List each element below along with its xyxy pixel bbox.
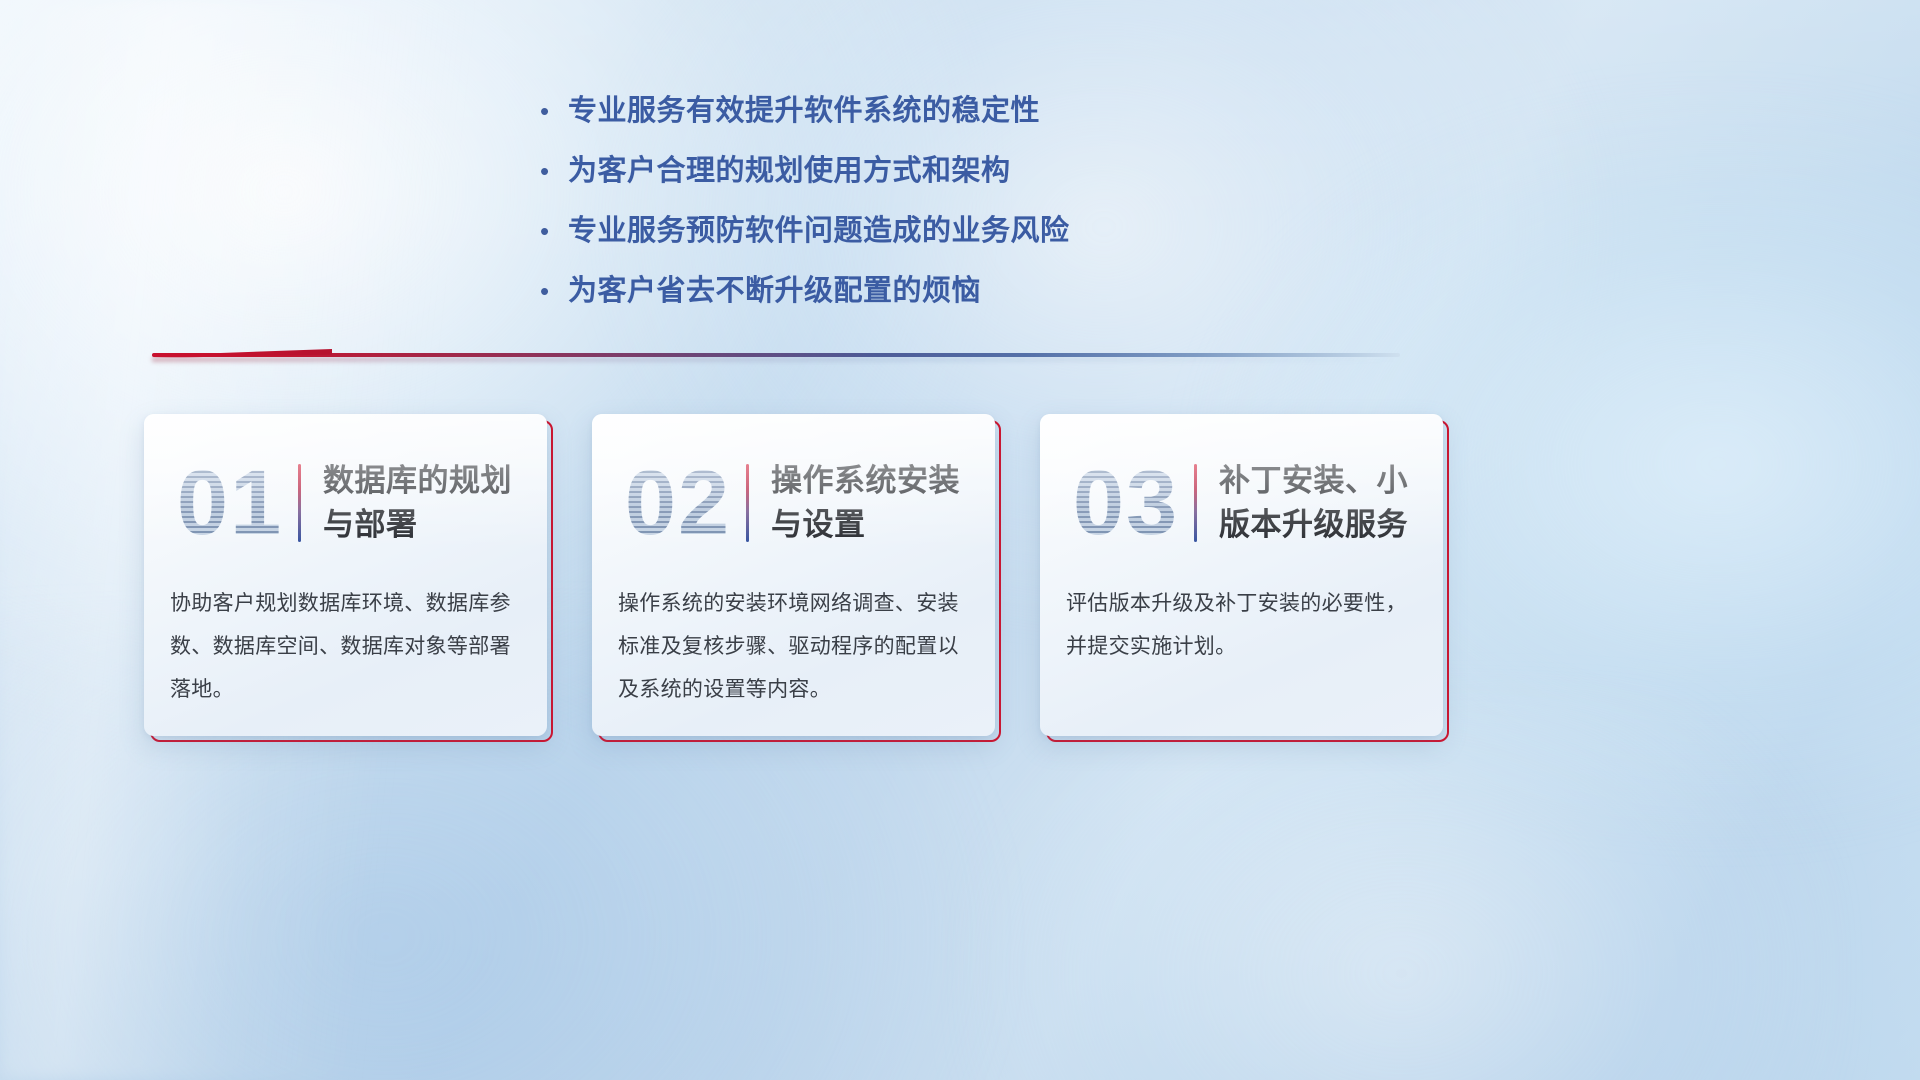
card-title: 补丁安装、小版本升级服务 <box>1219 459 1443 547</box>
card-title: 操作系统安装与设置 <box>771 459 995 547</box>
card-description: 操作系统的安装环境网络调查、安装标准及复核步骤、驱动程序的配置以及系统的设置等内… <box>618 582 973 711</box>
card-number: 02 <box>614 451 742 555</box>
divider-shadow <box>152 357 1400 362</box>
bullet-dot-icon: • <box>540 152 568 190</box>
card-divider-icon <box>746 464 749 542</box>
bullet-dot-icon: • <box>540 92 568 130</box>
card-header: 03 补丁安装、小版本升级服务 <box>1040 444 1443 562</box>
card-number: 01 <box>166 451 294 555</box>
section-divider-rule <box>152 348 1400 364</box>
card-description: 评估版本升级及补丁安装的必要性，并提交实施计划。 <box>1066 582 1421 668</box>
service-card-03[interactable]: 03 补丁安装、小版本升级服务 评估版本升级及补丁安装的必要性，并提交实施计划。 <box>1046 420 1449 742</box>
list-item: • 为客户省去不断升级配置的烦恼 <box>540 272 1240 310</box>
card-divider-icon <box>298 464 301 542</box>
card-header: 02 操作系统安装与设置 <box>592 444 995 562</box>
benefits-bullet-list: • 专业服务有效提升软件系统的稳定性 • 为客户合理的规划使用方式和架构 • 专… <box>540 92 1240 332</box>
bullet-label: 为客户合理的规划使用方式和架构 <box>568 152 1011 190</box>
card-surface: 03 补丁安装、小版本升级服务 评估版本升级及补丁安装的必要性，并提交实施计划。 <box>1040 414 1443 736</box>
card-surface: 02 操作系统安装与设置 操作系统的安装环境网络调查、安装标准及复核步骤、驱动程… <box>592 414 995 736</box>
service-card-row: 01 数据库的规划与部署 协助客户规划数据库环境、数据库参数、数据库空间、数据库… <box>150 420 1450 750</box>
bullet-dot-icon: • <box>540 212 568 250</box>
card-header: 01 数据库的规划与部署 <box>144 444 547 562</box>
card-number: 03 <box>1062 451 1190 555</box>
bullet-label: 专业服务有效提升软件系统的稳定性 <box>568 92 1040 130</box>
bullet-label: 为客户省去不断升级配置的烦恼 <box>568 272 981 310</box>
card-divider-icon <box>1194 464 1197 542</box>
divider-gradient <box>152 353 1400 357</box>
list-item: • 专业服务预防软件问题造成的业务风险 <box>540 212 1240 250</box>
card-title: 数据库的规划与部署 <box>323 459 547 547</box>
service-card-01[interactable]: 01 数据库的规划与部署 协助客户规划数据库环境、数据库参数、数据库空间、数据库… <box>150 420 553 742</box>
card-surface: 01 数据库的规划与部署 协助客户规划数据库环境、数据库参数、数据库空间、数据库… <box>144 414 547 736</box>
list-item: • 专业服务有效提升软件系统的稳定性 <box>540 92 1240 130</box>
service-card-02[interactable]: 02 操作系统安装与设置 操作系统的安装环境网络调查、安装标准及复核步骤、驱动程… <box>598 420 1001 742</box>
bullet-label: 专业服务预防软件问题造成的业务风险 <box>568 212 1070 250</box>
card-description: 协助客户规划数据库环境、数据库参数、数据库空间、数据库对象等部署落地。 <box>170 582 525 711</box>
list-item: • 为客户合理的规划使用方式和架构 <box>540 152 1240 190</box>
bullet-dot-icon: • <box>540 272 568 310</box>
